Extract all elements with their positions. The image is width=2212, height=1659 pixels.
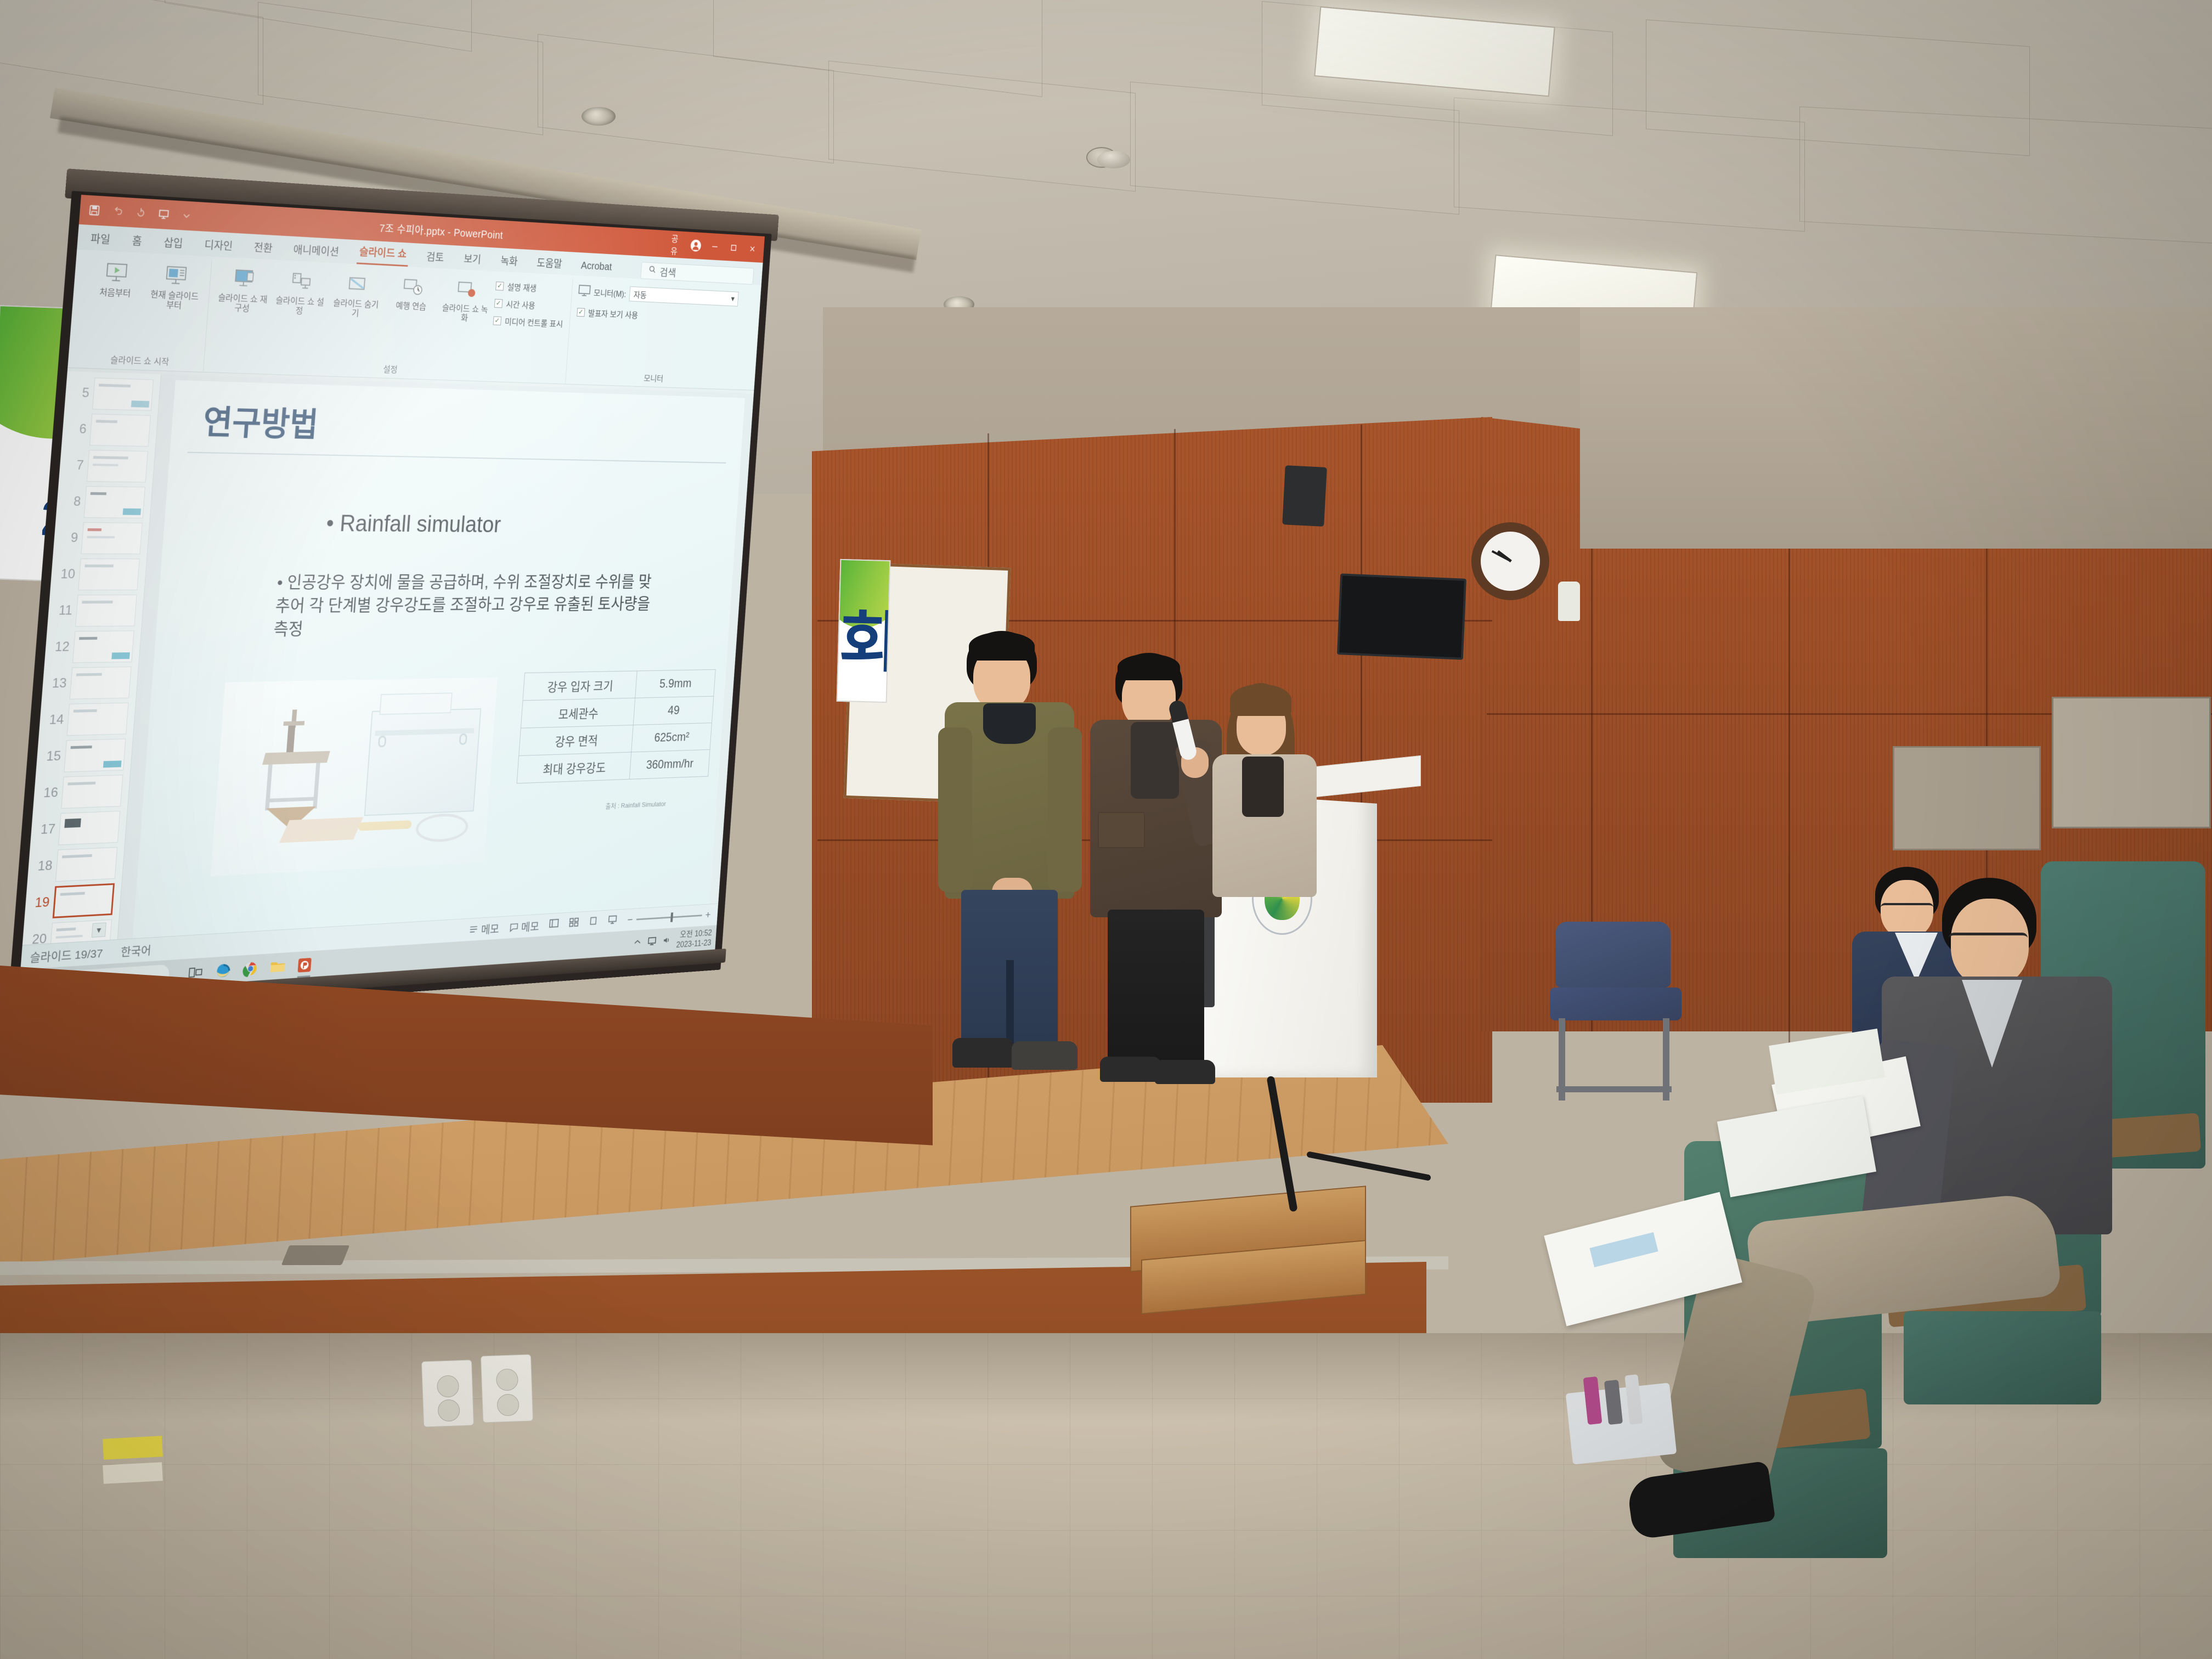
normal-view-icon[interactable] bbox=[549, 918, 560, 932]
clock-date: 2023-11-23 bbox=[676, 938, 712, 950]
arm-left bbox=[938, 727, 972, 892]
monitor-column: 모니터(M): 자동 ▾ ✓ 발표자 보기 사용 bbox=[577, 280, 739, 325]
tab-help[interactable]: 도움말 bbox=[534, 252, 565, 275]
sample-tray-illustration bbox=[279, 817, 363, 843]
button-record-slideshow[interactable]: 슬라이드 쇼 녹화 bbox=[439, 273, 492, 325]
button-set-up-slide-show[interactable]: 슬라이드 쇼 설정 bbox=[273, 264, 328, 318]
tab-view[interactable]: 보기 bbox=[461, 249, 483, 270]
system-tray[interactable]: 오전 10:52 2023-11-23 bbox=[633, 928, 713, 953]
leg-gap bbox=[1006, 960, 1014, 1051]
slide-thumbnail[interactable]: 6 bbox=[61, 411, 158, 449]
chair-seat bbox=[1550, 988, 1681, 1020]
reading-view-icon[interactable] bbox=[589, 915, 599, 929]
slide-bullet-heading: • Rainfall simulator bbox=[325, 510, 501, 538]
group-label: 모니터 bbox=[644, 371, 664, 387]
event-banner-right: 회 bbox=[837, 559, 891, 703]
button-hide-slide[interactable]: 슬라이드 숨기기 bbox=[329, 267, 383, 320]
checkbox-box: ✓ bbox=[577, 308, 585, 317]
redo-icon[interactable] bbox=[133, 206, 148, 221]
checkbox-box: ✓ bbox=[495, 281, 504, 291]
slide-editing-pane[interactable]: 연구방법 • Rainfall simulator • 인공강우 장치에 물을 … bbox=[118, 374, 754, 939]
rainfall-simulator-photo bbox=[211, 677, 498, 876]
custom-show-icon bbox=[230, 266, 258, 292]
notes-button-label: 메모 bbox=[481, 920, 500, 936]
search-placeholder: 검색 bbox=[659, 264, 676, 280]
monitor-selector-row[interactable]: 모니터(M): 자동 ▾ bbox=[578, 284, 738, 307]
button-label: 예행 연습 bbox=[396, 302, 426, 313]
button-label: 슬라이드 쇼 재구성 bbox=[215, 294, 269, 315]
checkbox-label: 설명 재생 bbox=[507, 280, 537, 294]
thumb-number: 13 bbox=[46, 676, 67, 692]
powerpoint-application[interactable]: 7조 수피아.pptx - PowerPoint 공유 bbox=[18, 195, 765, 998]
language-indicator[interactable]: 한국어 bbox=[120, 941, 152, 960]
zoom-in-button[interactable]: + bbox=[705, 909, 711, 921]
slide-thumbnail[interactable]: 12 bbox=[44, 628, 142, 665]
projection-screen: 7조 수피아.pptx - PowerPoint 공유 bbox=[15, 195, 765, 1035]
inner-top bbox=[1131, 722, 1179, 799]
smoke-detector bbox=[1097, 151, 1130, 168]
thumb-preview bbox=[55, 847, 117, 882]
thumb-number: 8 bbox=[60, 494, 81, 509]
thumb-number: 15 bbox=[39, 749, 61, 765]
slide-thumbnail[interactable]: 16 bbox=[33, 772, 130, 812]
wall-window-recess bbox=[1893, 746, 2041, 850]
slide-thumbnail[interactable]: 7 bbox=[59, 447, 155, 485]
chair-back bbox=[1555, 922, 1671, 988]
button-label: 슬라이드 숨기기 bbox=[329, 298, 381, 320]
monitor-label: 모니터(M): bbox=[593, 286, 627, 300]
tab-acrobat[interactable]: Acrobat bbox=[578, 258, 614, 277]
wall-window-recess bbox=[2052, 697, 2211, 828]
thumb-preview bbox=[87, 450, 148, 483]
shoe-right bbox=[1155, 1060, 1215, 1084]
slide-thumbnail[interactable]: 8 bbox=[56, 483, 153, 521]
volume-icon[interactable] bbox=[662, 935, 671, 947]
powerpoint-icon[interactable] bbox=[295, 955, 315, 976]
slide-title: 연구방법 bbox=[201, 395, 320, 446]
thumb-number: 7 bbox=[63, 458, 84, 473]
compaction-stand-illustration bbox=[257, 712, 339, 815]
checkbox-show-media-controls[interactable]: ✓ 미디어 컨트롤 표시 bbox=[493, 314, 563, 330]
slide-source-note: 출처 : Rainfall Simulator bbox=[605, 798, 666, 810]
user-account-icon[interactable] bbox=[690, 239, 702, 252]
button-label: 처음부터 bbox=[99, 288, 131, 300]
checkbox-label: 미디어 컨트롤 표시 bbox=[504, 315, 563, 330]
bullet-heading-text: Rainfall simulator bbox=[339, 511, 502, 538]
legs-trousers bbox=[1108, 910, 1204, 1066]
arm-right bbox=[1048, 727, 1082, 892]
spec-value: 360mm/hr bbox=[629, 749, 710, 779]
thumb-preview bbox=[70, 667, 132, 699]
comments-button-label: 메모 bbox=[521, 918, 539, 934]
file-explorer-icon[interactable] bbox=[267, 956, 287, 978]
group-label: 설정 bbox=[382, 362, 398, 378]
tab-slideshow[interactable]: 슬라이드 쇼 bbox=[357, 241, 409, 267]
thumbnail-scroll-down-arrow[interactable]: ▼ bbox=[92, 922, 106, 938]
thumb-number: 14 bbox=[43, 712, 65, 728]
setup-show-icon bbox=[287, 269, 315, 295]
shoe-right bbox=[1012, 1041, 1077, 1070]
editor-body: 5 6 7 8 bbox=[22, 371, 754, 945]
thumb-number: 16 bbox=[37, 785, 59, 802]
hose-coil-illustration bbox=[415, 812, 469, 843]
spec-value: 49 bbox=[633, 696, 714, 725]
button-rehearse-timings[interactable]: 예행 연습 bbox=[386, 270, 438, 313]
slide-sorter-icon[interactable] bbox=[568, 916, 579, 930]
wall-clock bbox=[1471, 522, 1549, 600]
monitor-dropdown[interactable]: 자동 ▾ bbox=[629, 286, 739, 307]
shoe-left bbox=[952, 1038, 1014, 1068]
slide-thumbnail[interactable]: 15 bbox=[36, 736, 133, 775]
customize-quick-access-icon[interactable] bbox=[179, 208, 194, 223]
slide-thumbnail-selected[interactable]: 19 bbox=[24, 881, 122, 922]
floor-cable bbox=[1306, 1151, 1431, 1181]
current-slide[interactable]: 연구방법 • Rainfall simulator • 인공강우 장치에 물을 … bbox=[132, 380, 744, 939]
thumb-preview bbox=[72, 630, 134, 663]
thumb-number: 12 bbox=[48, 639, 70, 655]
button-label: 현재 슬라이드부터 bbox=[146, 290, 202, 313]
thumb-preview bbox=[64, 738, 126, 772]
share-label[interactable]: 공유 bbox=[670, 238, 682, 251]
notes-button[interactable]: 메모 bbox=[469, 920, 500, 938]
thumb-preview bbox=[61, 775, 123, 809]
glasses bbox=[1949, 933, 2028, 947]
tab-home[interactable]: 홈 bbox=[129, 230, 145, 253]
close-icon[interactable] bbox=[747, 242, 759, 256]
slide-thumbnail[interactable]: 9 bbox=[53, 520, 149, 557]
checkbox-label: 시간 사용 bbox=[506, 297, 536, 311]
table-row: 강우 입자 크기 5.9mm bbox=[523, 669, 715, 700]
thumb-preview bbox=[58, 811, 120, 845]
button-from-current-slide[interactable]: 현재 슬라이드부터 bbox=[146, 258, 204, 313]
save-icon[interactable] bbox=[87, 203, 101, 218]
thumb-number: 10 bbox=[54, 567, 76, 582]
spec-key: 모세관수 bbox=[521, 698, 635, 728]
checkbox-use-presenter-view[interactable]: ✓ 발표자 보기 사용 bbox=[577, 306, 737, 325]
shoe-left bbox=[1100, 1057, 1161, 1082]
presenter-right bbox=[1207, 683, 1317, 902]
zoom-knob bbox=[670, 912, 673, 922]
wall-power-outlet[interactable] bbox=[421, 1359, 474, 1427]
button-from-beginning[interactable]: 처음부터 bbox=[87, 255, 145, 300]
slide-thumbnail[interactable]: 5 bbox=[64, 375, 161, 414]
checkbox-box: ✓ bbox=[493, 316, 502, 325]
inner-top bbox=[1242, 757, 1284, 817]
zoom-out-button[interactable]: − bbox=[627, 913, 633, 926]
fringe bbox=[969, 632, 1035, 661]
button-label: 슬라이드 쇼 설정 bbox=[273, 296, 326, 318]
slide-thumbnail[interactable]: 14 bbox=[38, 700, 136, 738]
thumb-preview bbox=[53, 883, 115, 918]
slide-thumbnail[interactable]: 10 bbox=[50, 556, 146, 592]
tab-file[interactable]: 파일 bbox=[88, 228, 114, 251]
internet-explorer-icon[interactable] bbox=[213, 960, 234, 981]
button-label: 슬라이드 쇼 녹화 bbox=[439, 303, 490, 324]
thumb-number: 20 bbox=[25, 932, 47, 945]
inner-shirt bbox=[983, 703, 1036, 744]
hide-slide-icon bbox=[344, 272, 371, 297]
audience-member-front bbox=[1865, 878, 2212, 1657]
zoom-slider[interactable]: − + bbox=[627, 909, 711, 926]
chevron-down-icon: ▾ bbox=[731, 294, 735, 304]
network-icon[interactable] bbox=[647, 936, 657, 948]
runoff-tank-illustration bbox=[364, 708, 482, 816]
slideshow-from-current-icon bbox=[162, 263, 191, 289]
slideshow-view-icon[interactable] bbox=[607, 914, 618, 928]
taskbar-clock[interactable]: 오전 10:52 2023-11-23 bbox=[676, 928, 712, 950]
chair-leg bbox=[1556, 1086, 1672, 1092]
spec-key: 강우 면적 bbox=[519, 725, 633, 756]
spec-value: 5.9mm bbox=[635, 669, 716, 698]
thumb-number: 19 bbox=[29, 895, 50, 911]
rehearse-timings-icon bbox=[399, 275, 426, 300]
thumb-number: 17 bbox=[34, 822, 56, 838]
setup-checkbox-column: ✓ 설명 재생 ✓ 시간 사용 ✓ 미디어 컨트롤 표시 bbox=[493, 275, 566, 330]
slide-title-rule bbox=[188, 452, 726, 464]
minimize-icon[interactable] bbox=[709, 240, 721, 253]
thumb-number: 6 bbox=[65, 421, 87, 437]
slide-thumbnail[interactable]: 11 bbox=[47, 592, 144, 629]
start-presentation-icon[interactable] bbox=[156, 207, 171, 222]
thumb-preview bbox=[78, 558, 139, 590]
tab-animations[interactable]: 애니메이션 bbox=[291, 239, 342, 263]
zoom-track[interactable] bbox=[636, 915, 702, 920]
stacking-chair bbox=[1550, 922, 1687, 1103]
thumb-preview bbox=[84, 486, 145, 518]
comments-button[interactable]: 메모 bbox=[509, 918, 539, 935]
ribbon-group-start-slideshow: 처음부터 현재 슬라이드부터 슬라이드 쇼 시작 bbox=[74, 254, 212, 371]
chrome-icon[interactable] bbox=[240, 958, 261, 980]
monitor-selected-value: 자동 bbox=[633, 288, 647, 301]
bullet-dot: • bbox=[325, 510, 335, 536]
button-custom-slide-show[interactable]: 슬라이드 쇼 재구성 bbox=[215, 261, 272, 315]
tab-transitions[interactable]: 전환 bbox=[251, 237, 275, 260]
upper-right-wall-panel bbox=[1580, 307, 2212, 549]
floor-plate bbox=[281, 1245, 350, 1265]
slideshow-from-start-icon bbox=[102, 259, 132, 286]
conference-room-photo: 2 회 bbox=[0, 0, 2212, 1659]
slide-counter: 슬라이드 19/37 bbox=[30, 944, 104, 965]
thumb-preview bbox=[81, 522, 142, 554]
restore-icon[interactable] bbox=[727, 241, 740, 255]
warning-sticker bbox=[103, 1436, 163, 1460]
recessed-downlight bbox=[582, 107, 616, 126]
wall-power-outlet[interactable] bbox=[481, 1354, 533, 1423]
thumb-number: 5 bbox=[68, 385, 89, 401]
presenter-left bbox=[933, 631, 1086, 1075]
undo-icon[interactable] bbox=[110, 204, 125, 219]
emergency-light bbox=[1558, 582, 1580, 621]
search-icon bbox=[648, 265, 657, 278]
warning-sticker bbox=[103, 1462, 163, 1484]
checkbox-label: 발표자 보기 사용 bbox=[588, 306, 639, 320]
checkbox-use-timings[interactable]: ✓ 시간 사용 bbox=[494, 297, 565, 312]
thumb-number: 9 bbox=[57, 531, 78, 546]
spec-key: 강우 입자 크기 bbox=[523, 671, 637, 701]
tab-insert[interactable]: 삽입 bbox=[161, 232, 185, 255]
banner-character: 회 bbox=[838, 588, 889, 685]
monitor-icon bbox=[578, 285, 590, 299]
thumb-number: 11 bbox=[51, 603, 72, 618]
thumb-preview bbox=[92, 377, 154, 411]
screen-surface: 7조 수피아.pptx - PowerPoint 공유 bbox=[18, 195, 765, 998]
thumb-preview bbox=[75, 595, 137, 627]
spec-key: 최대 강우강도 bbox=[517, 752, 631, 783]
fringe bbox=[1118, 654, 1180, 680]
fringe bbox=[1230, 684, 1291, 716]
record-slideshow-icon bbox=[453, 278, 479, 302]
tube-illustration bbox=[358, 820, 412, 831]
tab-design[interactable]: 디자인 bbox=[201, 234, 235, 257]
ribbon-group-monitors: 모니터(M): 자동 ▾ ✓ 발표자 보기 사용 bbox=[566, 279, 745, 390]
show-hidden-icons-chevron[interactable] bbox=[633, 938, 642, 947]
bullet-body-text: 인공강우 장치에 물을 공급하며, 수위 조절장치로 수위를 맞추어 각 단계별… bbox=[273, 573, 652, 639]
slide-thumbnail[interactable]: 18 bbox=[27, 844, 125, 885]
ribbon-group-setup: 슬라이드 쇼 재구성 슬라이드 쇼 설정 bbox=[204, 261, 573, 383]
spec-value: 625cm² bbox=[631, 723, 712, 752]
thumb-preview bbox=[89, 414, 151, 447]
group-label: 슬라이드 쇼 시작 bbox=[110, 352, 170, 370]
wall-mounted-monitor bbox=[1337, 573, 1466, 660]
slide-thumbnail[interactable]: 17 bbox=[30, 808, 127, 849]
tab-record[interactable]: 녹화 bbox=[498, 251, 521, 273]
tab-review[interactable]: 검토 bbox=[424, 246, 447, 269]
thumb-preview bbox=[67, 703, 129, 736]
simulator-spec-table: 강우 입자 크기 5.9mm 모세관수 49 강우 면적 625cm² bbox=[517, 669, 716, 783]
table-row: 최대 강우강도 360mm/hr bbox=[517, 749, 710, 783]
checkbox-play-narrations[interactable]: ✓ 설명 재생 bbox=[495, 280, 566, 295]
jacket-pocket bbox=[1098, 812, 1145, 848]
slide-thumbnail[interactable]: 13 bbox=[41, 664, 138, 702]
slide-bullet-body: • 인공강우 장치에 물을 공급하며, 수위 조절장치로 수위를 맞추어 각 단… bbox=[273, 571, 653, 641]
thumb-number: 18 bbox=[31, 858, 53, 874]
checkbox-box: ✓ bbox=[494, 298, 503, 307]
wall-speaker bbox=[1282, 465, 1327, 527]
seat-items bbox=[1566, 1383, 1677, 1464]
